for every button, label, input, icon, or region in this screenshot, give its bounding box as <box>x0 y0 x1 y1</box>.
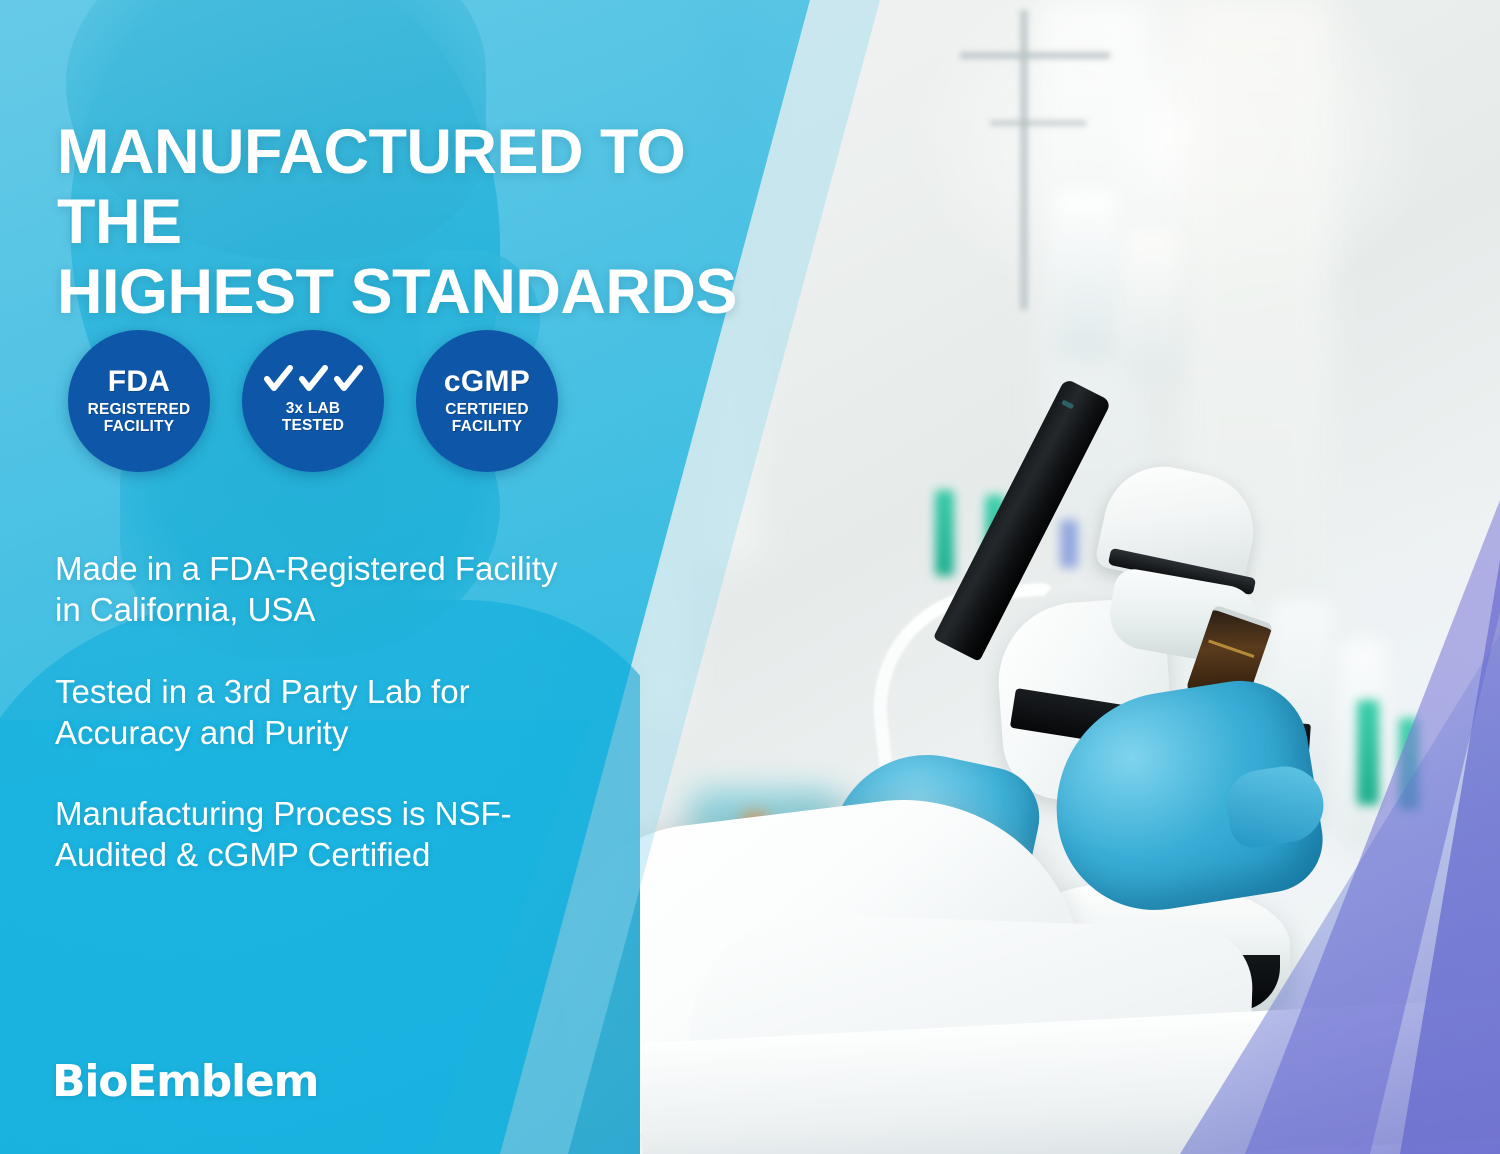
badge-subtitle-line-2: FACILITY <box>104 419 175 436</box>
badge-title: cGMP <box>444 367 530 397</box>
certification-badge-group: FDA REGISTERED FACILITY 3x LAB TESTED cG… <box>68 330 558 472</box>
badge-subtitle-line-1: REGISTERED <box>88 402 191 419</box>
promo-banner: MANUFACTURED TO THE HIGHEST STANDARDS FD… <box>0 0 1500 1154</box>
badge-subtitle-line-2: FACILITY <box>452 419 523 436</box>
badge-subtitle-line-1: CERTIFIED <box>445 402 529 419</box>
brand-logo: BioEmblem <box>52 1056 318 1107</box>
list-item: Made in a FDA-Registered Facility in Cal… <box>55 548 575 631</box>
triple-check-icon <box>263 364 363 394</box>
badge-cgmp-certified-facility: cGMP CERTIFIED FACILITY <box>416 330 558 472</box>
badge-fda-registered-facility: FDA REGISTERED FACILITY <box>68 330 210 472</box>
page-title: MANUFACTURED TO THE HIGHEST STANDARDS <box>57 118 777 328</box>
badge-title: FDA <box>108 367 171 397</box>
list-item: Manufacturing Process is NSF-Audited & c… <box>55 793 575 876</box>
feature-list: Made in a FDA-Registered Facility in Cal… <box>55 548 575 876</box>
headline-line-2: HIGHEST STANDARDS <box>57 258 777 328</box>
banner-content: MANUFACTURED TO THE HIGHEST STANDARDS FD… <box>0 0 1500 1154</box>
badge-subtitle-line-2: TESTED <box>282 418 344 435</box>
headline-line-1: MANUFACTURED TO THE <box>57 117 685 257</box>
badge-subtitle-line-1: 3x LAB <box>286 401 341 418</box>
list-item: Tested in a 3rd Party Lab for Accuracy a… <box>55 671 575 754</box>
badge-3x-lab-tested: 3x LAB TESTED <box>242 330 384 472</box>
